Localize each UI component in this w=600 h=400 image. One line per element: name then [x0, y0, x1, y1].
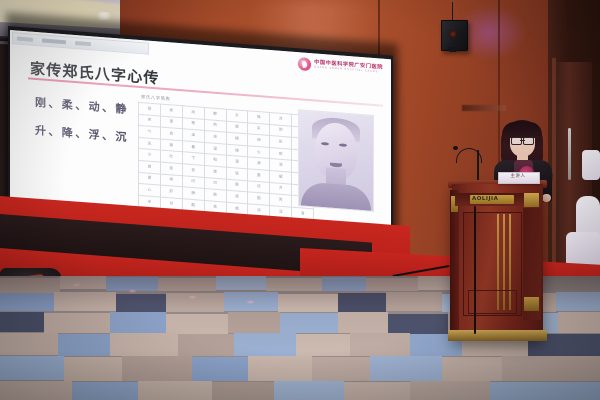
hospital-logo-mark-icon	[298, 57, 311, 71]
portrait-body	[301, 181, 371, 210]
left-line-2: 升、降、浮、沉	[35, 122, 129, 145]
eight-character-table: 刚柔动静升降浮沉表里寒热虚实阴阳气血津液精神形体风寒暑湿燥火痰瘀汗吐下和温清消补…	[138, 102, 314, 221]
podium-emblem-text: AOLIJIA	[472, 196, 498, 202]
microphone-head-icon	[453, 146, 458, 150]
podium-gold-block	[524, 297, 539, 311]
speaker-cone-icon	[449, 30, 457, 38]
microphone-stem	[477, 150, 479, 182]
name-placard-text: 主讲人	[498, 173, 538, 179]
hospital-logo-text: 中国中医科学院广安门医院 GUANG ANMEN HOSPITAL CACMS	[314, 61, 383, 75]
slide-left-text: 刚、柔、动、静 升、降、浮、沉	[35, 94, 129, 145]
podium-base	[448, 330, 547, 341]
eyeglasses-icon	[511, 137, 534, 143]
left-line-1: 刚、柔、动、静	[35, 94, 129, 117]
physician-portrait	[298, 109, 374, 212]
toolbar-icons	[17, 37, 91, 47]
presenter-fringe	[502, 122, 542, 138]
hospital-logo: 中国中医科学院广安门医院 GUANG ANMEN HOSPITAL CACMS	[298, 57, 383, 77]
table-caption: 郑氏八字简表	[141, 94, 170, 102]
speaker-wire	[452, 2, 453, 22]
photo-scene: 中国中医科学院广安门医院 GUANG ANMEN HOSPITAL CACMS …	[0, 0, 600, 400]
podium-gold-block	[524, 193, 539, 207]
chair-cover	[582, 150, 600, 180]
wall-vent	[462, 105, 506, 111]
podium-cable	[474, 206, 476, 334]
door-handle[interactable]	[568, 128, 571, 180]
presenter-hand	[542, 194, 551, 202]
